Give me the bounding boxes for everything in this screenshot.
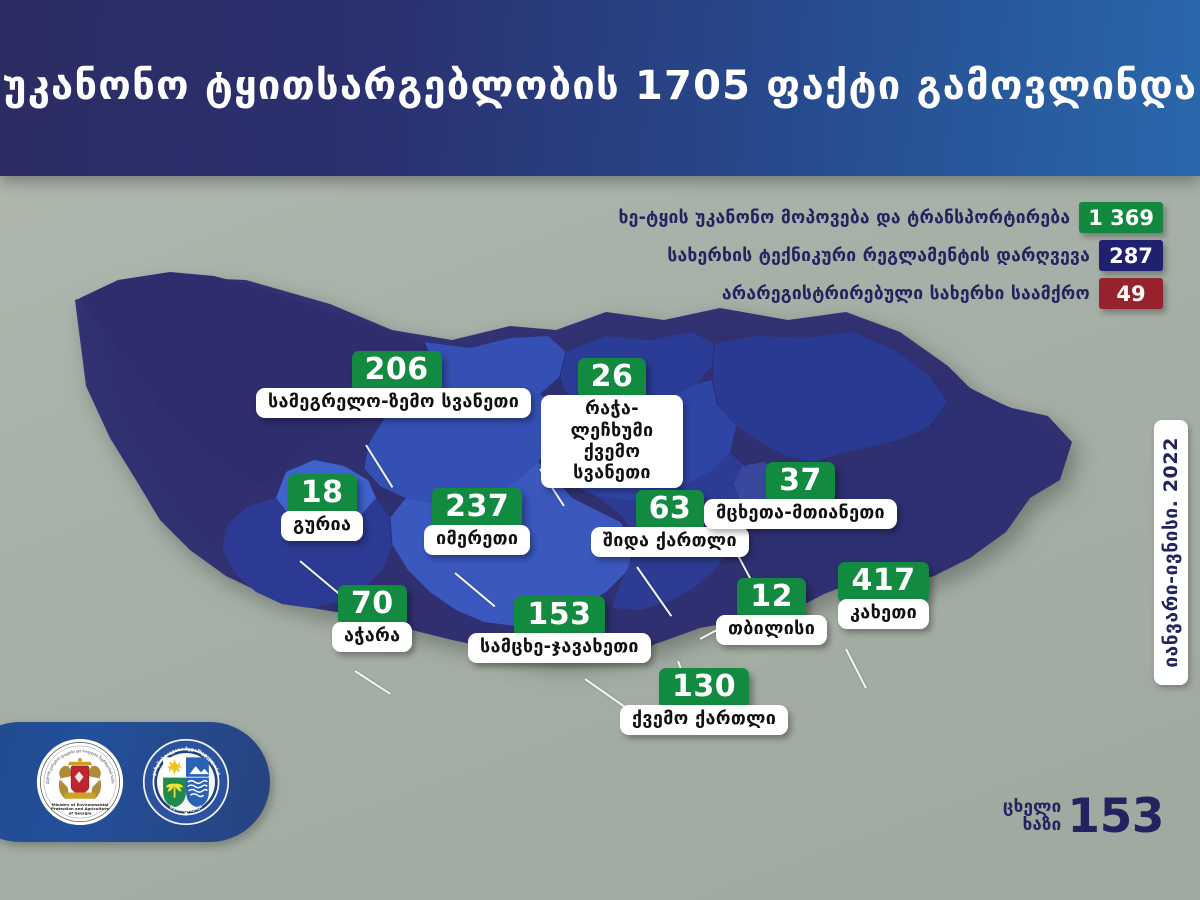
page-title: უკანონო ტყითსარგებლობის 1705 ფაქტი გამოვ… [3, 63, 1198, 113]
badge-name-racha: რაჭა-ლეჩხუმი ქვემო სვანეთი [541, 395, 683, 488]
date-range-label: იანვარი-ივნისი. 2022 [1160, 437, 1182, 668]
legend-row: ხე-ტყის უკანონო მოპოვება და ტრანსპორტირე… [619, 202, 1163, 233]
header-banner: უკანონო ტყითსარგებლობის 1705 ფაქტი გამოვ… [0, 0, 1200, 176]
badge-value-kakheti: 417 [838, 562, 928, 603]
badge-name-samtskhe: სამცხე-ჯავახეთი [468, 633, 651, 662]
badge-name-imereti: იმერეთი [424, 525, 530, 554]
badge-value-kvemo-kartli: 130 [659, 668, 749, 709]
badge-value-mtskheta: 37 [766, 462, 835, 503]
badge-name-guria: გურია [281, 511, 363, 540]
legend-label-sawmill-regulation: სახერხის ტექნიკური რეგლამენტის დარღვევა [667, 246, 1090, 266]
department-emblem-icon: გარემოსდაცვითი ზედამხედველობის დეპარტამე… [142, 738, 230, 826]
badge-value-imereti: 237 [432, 488, 522, 529]
callout-mtskheta: 37 მცხეთა-მთიანეთი [704, 462, 897, 529]
legend-row: სახერხის ტექნიკური რეგლამენტის დარღვევა … [667, 240, 1163, 271]
badge-name-shida-kartli: შიდა ქართლი [591, 527, 749, 556]
callout-imereti: 237 იმერეთი [424, 488, 530, 555]
callout-kvemo-kartli: 130 ქვემო ქართლი [620, 668, 788, 735]
callout-racha: 26 რაჭა-ლეჩხუმი ქვემო სვანეთი [541, 358, 683, 488]
infographic-canvas: უკანონო ტყითსარგებლობის 1705 ფაქტი გამოვ… [0, 0, 1200, 900]
hotline-number: 153 [1067, 789, 1164, 844]
callout-adjara: 70 აჭარა [332, 585, 412, 652]
legend-row: არარეგისტრირებული სახერხი საამქრო 49 [722, 278, 1163, 309]
badge-name-adjara: აჭარა [332, 622, 412, 651]
badge-name-kakheti: კახეთი [838, 599, 929, 628]
badge-value-adjara: 70 [338, 585, 407, 626]
date-range-box: იანვარი-ივნისი. 2022 [1154, 420, 1188, 685]
hotline-line2: ხაზი [1003, 817, 1062, 834]
badge-name-kvemo-kartli: ქვემო ქართლი [620, 705, 788, 734]
badge-name-samegrelo: სამეგრელო-ზემო სვანეთი [256, 388, 531, 417]
badge-value-samtskhe: 153 [514, 596, 604, 637]
legend-value-sawmill-regulation: 287 [1099, 240, 1163, 271]
badge-name-mtskheta: მცხეთა-მთიანეთი [704, 499, 897, 528]
logo-bar: Ministry of Environmental Protection and… [0, 722, 270, 842]
callout-samtskhe: 153 სამცხე-ჯავახეთი [468, 596, 651, 663]
legend-label-illegal-logging: ხე-ტყის უკანონო მოპოვება და ტრანსპორტირე… [619, 208, 1071, 228]
badge-value-guria: 18 [288, 474, 357, 515]
legend: ხე-ტყის უკანონო მოპოვება და ტრანსპორტირე… [619, 202, 1163, 309]
badge-value-tbilisi: 12 [737, 578, 806, 619]
hotline-words: ცხელი ხაზი [1003, 799, 1062, 834]
legend-label-unregistered-sawmill: არარეგისტრირებული სახერხი საამქრო [722, 284, 1090, 304]
badge-value-shida-kartli: 63 [636, 490, 705, 531]
legend-value-unregistered-sawmill: 49 [1099, 278, 1163, 309]
callout-tbilisi: 12 თბილისი [716, 578, 827, 645]
badge-name-racha-line1: რაჭა-ლეჩხუმი [571, 398, 654, 440]
badge-name-racha-line2: ქვემო სვანეთი [573, 441, 651, 483]
callout-kakheti: 417 კახეთი [838, 562, 929, 629]
hotline-line1: ცხელი [1003, 799, 1062, 816]
callout-guria: 18 გურია [281, 474, 363, 541]
ministry-emblem-icon: Ministry of Environmental Protection and… [36, 738, 124, 826]
badge-value-racha: 26 [578, 358, 647, 399]
svg-text:of Georgia: of Georgia [69, 811, 92, 816]
callout-samegrelo: 206 სამეგრელო-ზემო სვანეთი [256, 351, 531, 418]
badge-value-samegrelo: 206 [352, 351, 442, 392]
legend-value-illegal-logging: 1 369 [1079, 202, 1163, 233]
hotline: ცხელი ხაზი 153 [1003, 789, 1164, 844]
badge-name-tbilisi: თბილისი [716, 615, 827, 644]
